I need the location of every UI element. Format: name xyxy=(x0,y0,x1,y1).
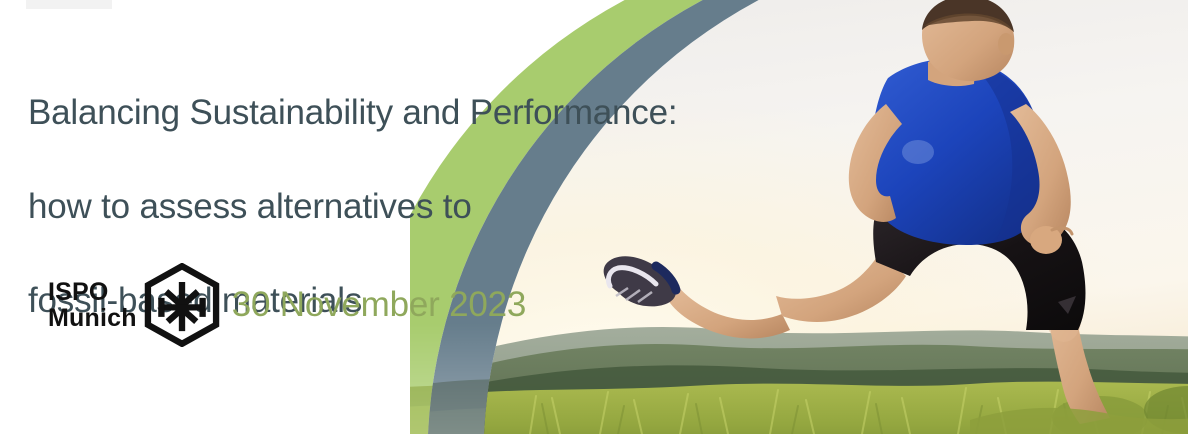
ispo-wordmark-line2: Munich xyxy=(48,305,137,331)
event-banner: Balancing Sustainability and Performance… xyxy=(0,0,1188,434)
event-date: 30 November 2023 xyxy=(232,285,527,325)
ispo-wordmark-line1: ISPO xyxy=(48,279,137,305)
ispo-wordmark: ISPO Munich xyxy=(48,279,142,331)
logo-and-date-row: ISPO Munich 30 November 2023 xyxy=(48,263,526,347)
top-left-artifact xyxy=(26,0,112,9)
bib-number xyxy=(902,140,934,164)
title-line-2: how to assess alternatives to xyxy=(28,183,718,230)
title-line-1: Balancing Sustainability and Performance… xyxy=(28,89,718,136)
ispo-hexagon-icon xyxy=(142,263,222,347)
